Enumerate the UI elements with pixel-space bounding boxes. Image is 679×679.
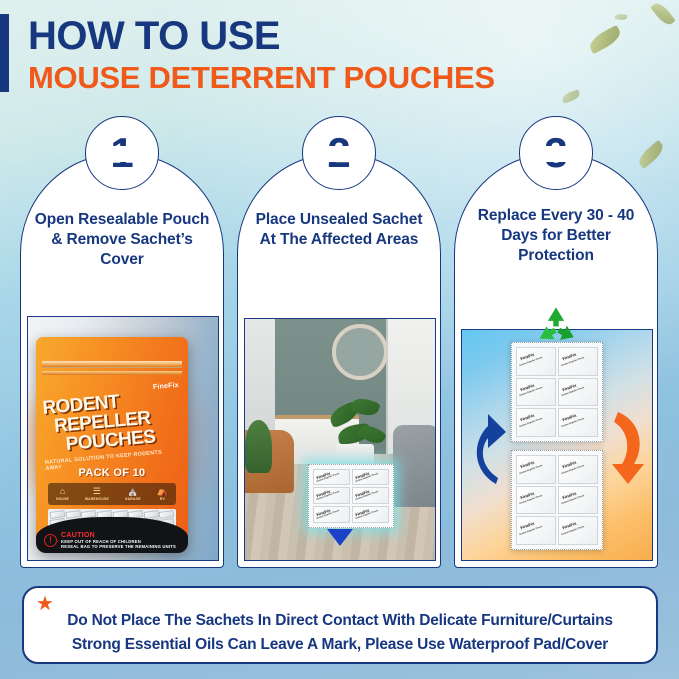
pouch-icon-garage: ⛪ GARAGE (125, 487, 141, 501)
sachet (558, 408, 598, 437)
step-1-label: Open Resealable Pouch & Remove Sachet’s … (21, 210, 223, 269)
sachet-sheet-new (511, 450, 603, 550)
replacement-cycle-graphic (462, 330, 652, 560)
pouch-product-title: RODENT REPELLER POUCHES (42, 387, 182, 456)
sachet (516, 486, 556, 515)
badge-merge-mask (91, 146, 153, 162)
step-1-image-panel: FineFix RODENT REPELLER POUCHES NATURAL … (27, 316, 219, 561)
step-card-1: Open Resealable Pouch & Remove Sachet’s … (20, 116, 224, 568)
step-card-2: Place Unsealed Sachet At The Affected Ar… (237, 116, 441, 568)
steps-container: Open Resealable Pouch & Remove Sachet’s … (20, 116, 659, 568)
sachet (558, 455, 598, 484)
house-icon-label: HOUSE (56, 497, 69, 501)
star-icon: ★ (36, 594, 54, 614)
step-3-label: Replace Every 30 - 40 Days for Better Pr… (455, 206, 657, 265)
warning-line-2: Strong Essential Oils Can Leave A Mark, … (24, 636, 656, 654)
sachet (516, 378, 556, 407)
living-room-photo (245, 319, 435, 560)
sachet (313, 487, 350, 504)
header-accent-bar (0, 14, 9, 92)
warehouse-icon: ☰ (85, 487, 109, 496)
step-3-image-panel (461, 329, 653, 561)
pouch-icon-warehouse: ☰ WAREHOUSE (85, 487, 109, 501)
sachet (516, 408, 556, 437)
page-title-secondary: MOUSE DETERRENT POUCHES (28, 62, 495, 93)
sachet (558, 516, 598, 545)
sachet (516, 516, 556, 545)
pouch-icon-rv: ⛺ RV (157, 487, 168, 501)
room-mirror (332, 324, 388, 380)
sachet (516, 347, 556, 376)
step-1-card-body: Open Resealable Pouch & Remove Sachet’s … (20, 153, 224, 568)
sachet (516, 455, 556, 484)
badge-merge-mask (308, 146, 370, 162)
pouch-icon-house: ⌂ HOUSE (56, 487, 69, 501)
cycle-arrow-up-icon (466, 408, 508, 488)
sachet-sheet-old (511, 342, 603, 442)
step-2-image-panel (244, 318, 436, 561)
leaf-decoration-icon (561, 89, 581, 103)
leaf-decoration-icon (650, 0, 675, 28)
bottom-warning-note: ★ Do Not Place The Sachets In Direct Con… (22, 586, 658, 664)
placement-pointer-icon (327, 529, 353, 546)
rv-icon-label: RV (157, 497, 168, 501)
caution-title: CAUTION (61, 532, 176, 539)
pouch-usage-icons: ⌂ HOUSE ☰ WAREHOUSE ⛪ GARAGE ⛺ (48, 483, 176, 505)
recycle-icon (534, 306, 578, 349)
garage-icon-label: GARAGE (125, 497, 141, 501)
leaf-decoration-icon (586, 25, 623, 54)
product-pouch: FineFix RODENT REPELLER POUCHES NATURAL … (36, 337, 188, 553)
warehouse-icon-label: WAREHOUSE (85, 497, 109, 501)
page-title-primary: HOW TO USE (28, 16, 495, 56)
pouch-caution-block: ! CAUTION KEEP OUT OF REACH OF CHILDREN … (44, 532, 182, 549)
room-snake-plant (245, 420, 272, 473)
step-3-card-body: Replace Every 30 - 40 Days for Better Pr… (454, 153, 658, 568)
pouch-pack-size: PACK OF 10 (36, 467, 188, 479)
pouch-zipper (42, 361, 182, 368)
pouch-zipper-secondary (42, 371, 182, 375)
sachet (352, 487, 389, 504)
sachet (558, 378, 598, 407)
badge-merge-mask (525, 146, 587, 162)
sachet (558, 486, 598, 515)
sachet (352, 506, 389, 523)
caution-line-2: RESEAL BAG TO PRESERVE THE REMAINING UNI… (61, 544, 176, 549)
room-armchair (393, 425, 435, 507)
rv-icon: ⛺ (157, 487, 168, 496)
step-2-label: Place Unsealed Sachet At The Affected Ar… (238, 210, 440, 250)
step-2-card-body: Place Unsealed Sachet At The Affected Ar… (237, 153, 441, 568)
sachet (313, 506, 350, 523)
warning-line-1: Do Not Place The Sachets In Direct Conta… (24, 612, 656, 630)
step-card-3: Replace Every 30 - 40 Days for Better Pr… (454, 116, 658, 568)
sachet (313, 469, 350, 486)
warning-exclamation-icon: ! (44, 534, 57, 547)
cycle-arrow-down-icon (608, 410, 650, 486)
leaf-decoration-icon (615, 13, 628, 21)
sachet-sheet-placed (308, 464, 394, 528)
house-icon: ⌂ (56, 487, 69, 496)
garage-icon: ⛪ (125, 487, 141, 496)
page-header: HOW TO USE MOUSE DETERRENT POUCHES (28, 16, 495, 93)
sachet (558, 347, 598, 376)
sachet (352, 469, 389, 486)
